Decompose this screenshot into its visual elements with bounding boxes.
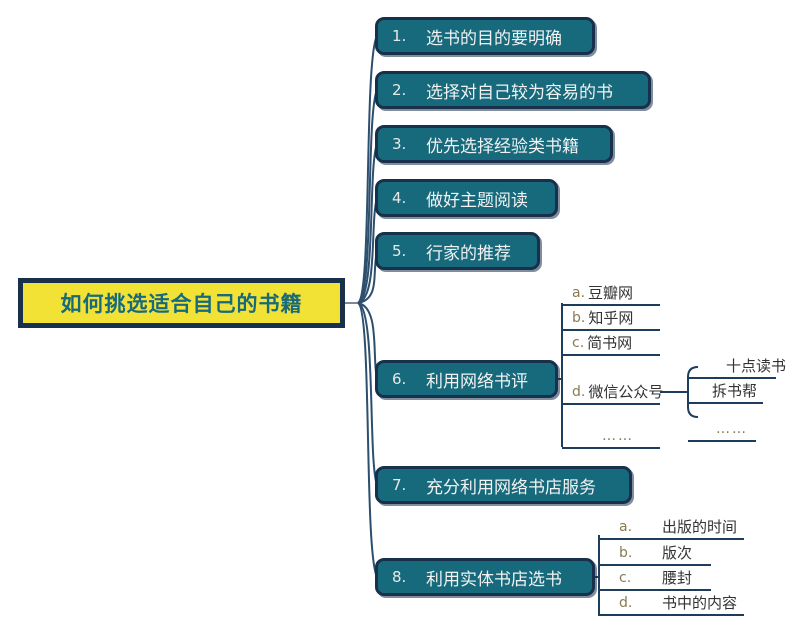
sub-item-8a-key: a. [599,519,653,535]
sub-item-8d[interactable]: d. 书中的内容 [599,591,744,616]
branch-node-2[interactable]: 2. 选择对自己较为容易的书 [375,71,651,109]
sub-item-6c[interactable]: c. 简书网 [562,331,660,356]
sub-item-6d[interactable]: d. 微信公众号 [562,380,660,405]
sub-item-6a-key: a. [562,285,585,301]
sub-item-6d-2[interactable]: 拆书帮 [688,379,763,404]
branch-label-2: 选择对自己较为容易的书 [426,78,629,103]
branch-node-1[interactable]: 1. 选书的目的要明确 [375,17,595,55]
sub-item-6d-key: d. [562,384,585,400]
branch-number-2: 2. [378,81,426,99]
sub-item-8d-label: 书中的内容 [653,592,737,613]
branch-node-7[interactable]: 7. 充分利用网络书店服务 [375,466,632,504]
sub-item-6c-label: 简书网 [584,332,632,353]
branch-node-6[interactable]: 6. 利用网络书评 [375,360,558,398]
sub-item-6c-key: c. [562,335,584,351]
branch-label-5: 行家的推荐 [426,239,527,264]
branch-number-8: 8. [378,568,426,586]
sub-item-6d-1[interactable]: 十点读书 [688,354,776,379]
sub-item-8a-label: 出版的时间 [653,516,737,537]
sub-item-8b-key: b. [599,545,653,561]
sub-item-6d-2-label: 拆书帮 [688,380,757,401]
root-node-label: 如何挑选适合自己的书籍 [61,288,303,318]
sub-item-6d-more-label: …… [688,421,748,437]
sub-item-8c[interactable]: c. 腰封 [599,566,711,591]
sub-item-8b[interactable]: b. 版次 [599,541,711,566]
branch-number-6: 6. [378,370,426,388]
branch-label-3: 优先选择经验类书籍 [426,132,595,157]
root-node[interactable]: 如何挑选适合自己的书籍 [18,278,345,328]
sub-item-6a[interactable]: a. 豆瓣网 [562,281,660,306]
sub-item-6d-more[interactable]: …… [688,417,756,442]
sub-item-6b[interactable]: b. 知乎网 [562,306,660,331]
sub-item-8c-label: 腰封 [653,567,692,588]
sub-item-6d-label: 微信公众号 [585,381,663,402]
branch-number-3: 3. [378,135,426,153]
sub-item-6d-1-label: 十点读书 [688,355,786,376]
branch-label-8: 利用实体书店选书 [426,565,578,590]
sub-item-8c-key: c. [599,570,653,586]
branch-node-4[interactable]: 4. 做好主题阅读 [375,179,558,217]
branch-number-5: 5. [378,242,426,260]
branch-label-6: 利用网络书评 [426,367,544,392]
branch-label-4: 做好主题阅读 [426,186,544,211]
branch-number-7: 7. [378,476,426,494]
sub-item-6-more-label: …… [562,428,634,444]
branch-node-5[interactable]: 5. 行家的推荐 [375,232,540,270]
sub-item-6-more[interactable]: …… [562,424,660,449]
branch-node-3[interactable]: 3. 优先选择经验类书籍 [375,125,613,163]
branch-node-8[interactable]: 8. 利用实体书店选书 [375,558,595,596]
branch-label-1: 选书的目的要明确 [426,24,578,49]
branch-number-4: 4. [378,189,426,207]
sub-item-6a-label: 豆瓣网 [585,282,633,303]
mindmap-canvas: 如何挑选适合自己的书籍 1. 选书的目的要明确 2. 选择对自己较为容易的书 3… [0,0,801,631]
sub-item-6b-label: 知乎网 [585,307,633,328]
branch-label-7: 充分利用网络书店服务 [426,473,612,498]
sub-item-6b-key: b. [562,310,585,326]
sub-item-8d-key: d. [599,595,653,611]
sub-item-8b-label: 版次 [653,542,692,563]
sub-item-8a[interactable]: a. 出版的时间 [599,515,744,540]
branch-number-1: 1. [378,27,426,45]
